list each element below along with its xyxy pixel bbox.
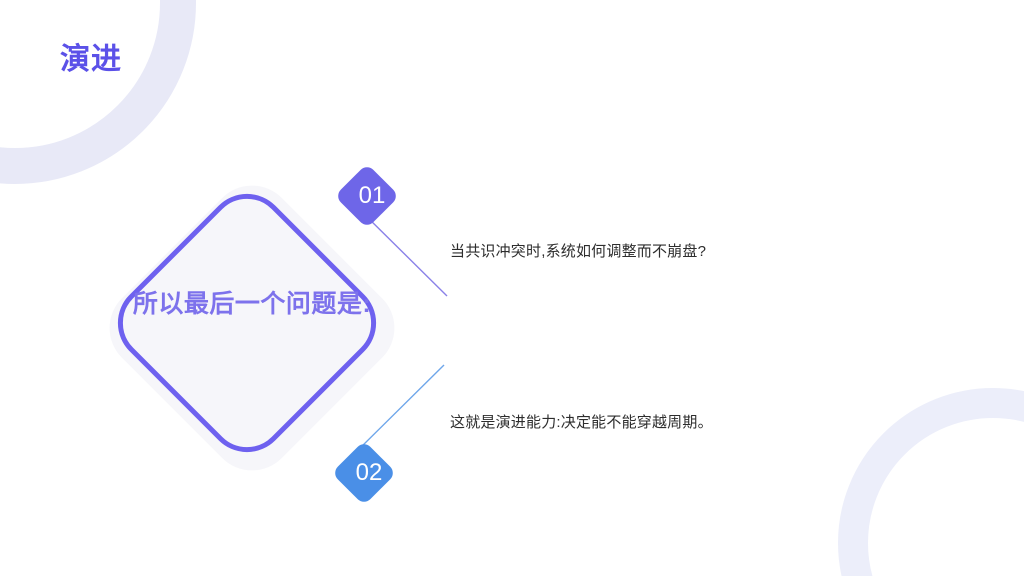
badge-01-number: 01 (337, 184, 407, 208)
slide-canvas: 演进 所以最后一个问题是: (0, 0, 1024, 576)
decorative-ring-top-left (0, 0, 196, 184)
page-title: 演进 (60, 42, 122, 78)
central-question-label: 所以最后一个问题是: (118, 286, 386, 324)
item-02-text: 这就是演进能力:决定能不能穿越周期。 (450, 411, 713, 435)
decorative-ring-bottom-right (838, 388, 1024, 576)
badge-02-number: 02 (334, 461, 404, 485)
item-01-text: 当共识冲突时,系统如何调整而不崩盘? (450, 240, 706, 264)
